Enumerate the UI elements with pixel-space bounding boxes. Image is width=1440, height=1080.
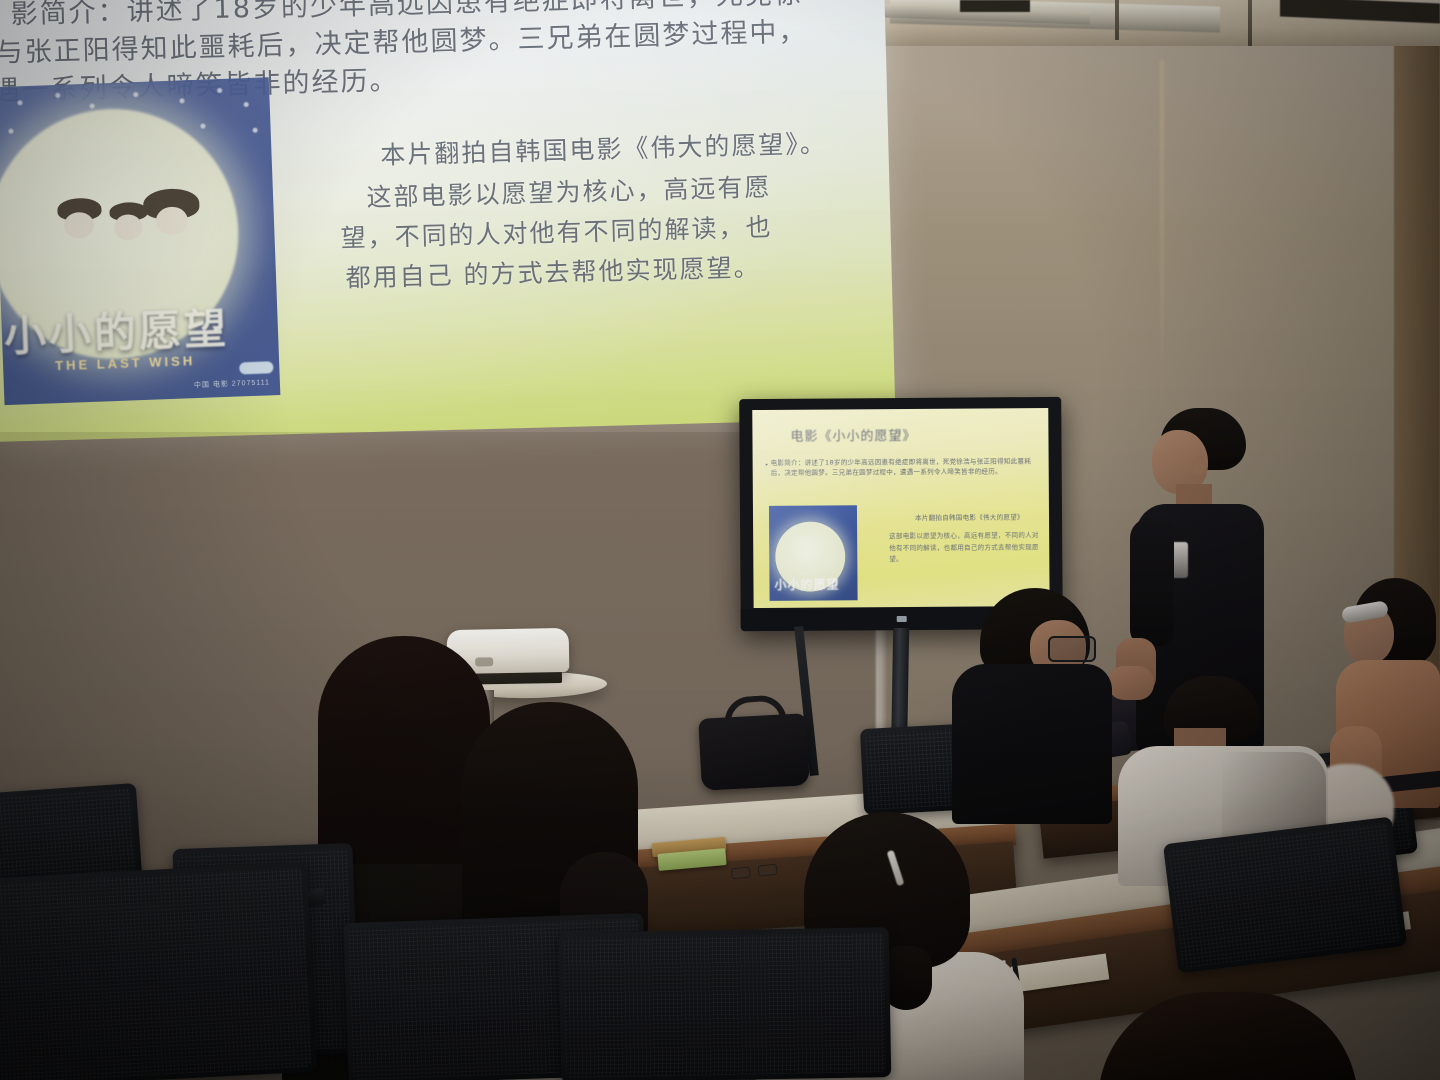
ceiling-shadow-strip (960, 0, 1030, 12)
slide-bullet-body: 电影简介：讲述了18岁的少年高远因患有绝症即将离世，死党徐浩与张正阳得知此噩耗后… (771, 457, 1032, 477)
panel-screen: 电影《小小的愿望》 • 电影简介：讲述了18岁的少年高远因患有绝症即将离世，死党… (752, 408, 1049, 608)
chair-back (0, 862, 317, 1080)
poster-credit: 中国 电影 27075111 (194, 377, 270, 390)
projection-paragraph-3-line-3: 都用自己 的方式去帮他实现愿望。 (345, 248, 761, 295)
torso (952, 664, 1112, 824)
slide-right-heading: 本片翻拍自韩国电影《伟大的愿望》 (889, 512, 1039, 524)
hair (1098, 992, 1358, 1080)
chair (0, 862, 317, 1080)
slide-poster-thumbnail: 小小的愿望 (769, 505, 858, 601)
chair-mesh (564, 932, 886, 1078)
student-bottom-right (1098, 992, 1358, 1080)
slide-right-text: 本片翻拍自韩国电影《伟大的愿望》 这部电影以愿望为核心，高远有愿望，不同的人对他… (889, 512, 1039, 566)
power-led-icon (897, 616, 907, 622)
slide-poster-moon (775, 521, 845, 591)
projection-paragraph-2: 本片翻拍自韩国电影《伟大的愿望》。 (380, 124, 827, 172)
wall-seam-secondary (1160, 60, 1164, 420)
slide-right-body: 这部电影以愿望为核心，高远有愿望，不同的人对他有不同的解读，也都用自己的方式去帮… (889, 531, 1039, 563)
ear (1192, 456, 1205, 474)
chair-back (1163, 816, 1407, 973)
chair-mesh (0, 867, 312, 1080)
ceiling-hanger (1248, 0, 1252, 46)
projected-movie-poster: 小小的愿望 THE LAST WISH 中国 电影 27075111 (0, 77, 280, 405)
slide-poster-title: 小小的愿望 (774, 575, 839, 592)
projection-paragraph-3-line-1: 这部电影以愿望为核心，高远有愿 (366, 168, 772, 215)
shoulder-bag (698, 713, 810, 791)
slide-bullet-text: • 电影简介：讲述了18岁的少年高远因患有绝症即将离世，死党徐浩与张正阳得知此噩… (771, 456, 1033, 478)
poster-rating-badge (239, 361, 273, 374)
poster-title: 小小的愿望 (3, 293, 277, 359)
chair-mesh (1169, 822, 1402, 968)
eyeglasses-icon (1048, 636, 1096, 662)
wall-projection: 影简介：讲述了18岁的少年高远因患有绝症即将离世，死党徐 与张正阳得知此噩耗后，… (0, 0, 896, 442)
slide-title: 电影《小小的愿望》 (790, 425, 916, 445)
poster-character-1 (55, 197, 105, 241)
sleeve (1130, 518, 1174, 646)
chair-back (559, 927, 892, 1080)
student-glasses (952, 588, 1122, 818)
chair (1163, 816, 1407, 973)
poster-character-3 (143, 188, 203, 238)
student-sunglasses (1336, 578, 1440, 808)
bullet-dot: • (765, 460, 769, 470)
classroom-photo: 影简介：讲述了18岁的少年高远因患有绝症即将离世，死党徐 与张正阳得知此噩耗后，… (0, 0, 1440, 1080)
projection-paragraph-3-line-2: 望，不同的人对他有不同的解读，也 (340, 208, 773, 255)
chair (559, 927, 892, 1080)
ceiling-hanger (1115, 0, 1119, 40)
